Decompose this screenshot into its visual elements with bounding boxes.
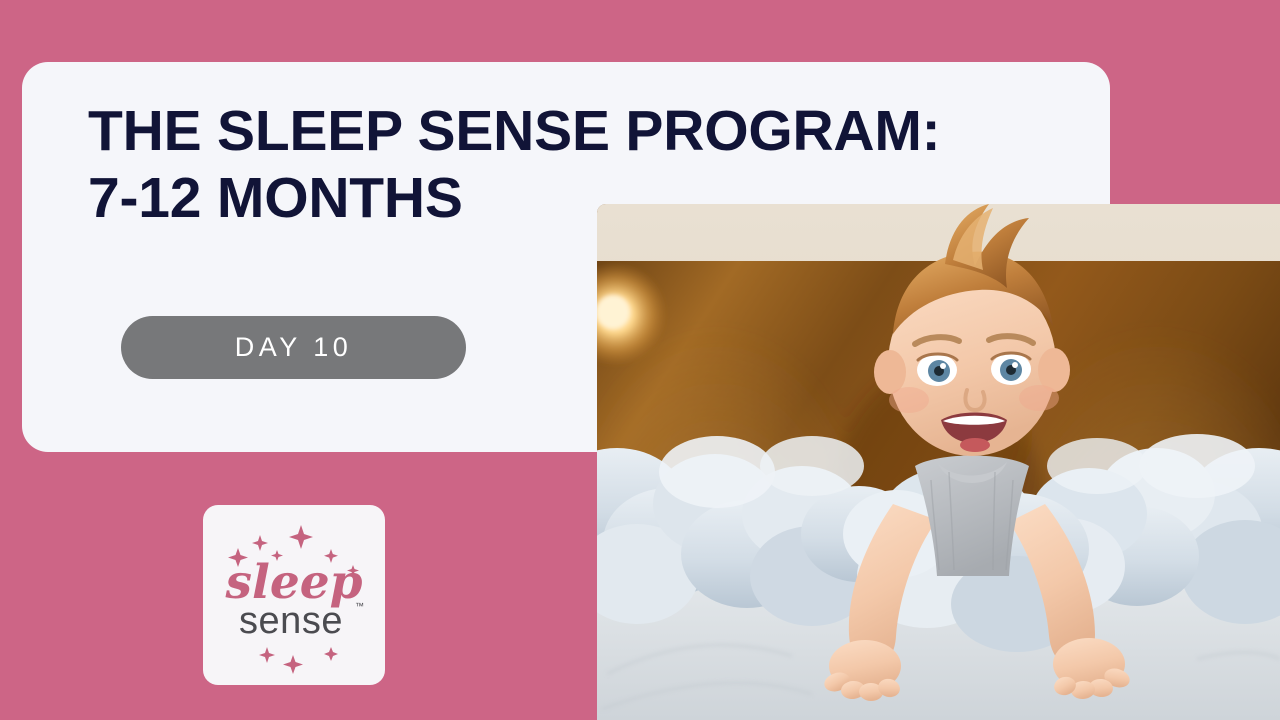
sleep-sense-logo: sleep sense ™ xyxy=(203,505,385,685)
logo-artwork: sleep sense ™ xyxy=(203,505,385,685)
logo-trademark: ™ xyxy=(355,601,364,611)
baby-photo xyxy=(597,204,1280,720)
baby-photo-illustration xyxy=(597,204,1280,720)
day-badge-label: DAY 10 xyxy=(235,332,353,363)
day-badge: DAY 10 xyxy=(121,316,466,379)
slide-canvas: THE SLEEP SENSE PROGRAM: 7-12 MONTHS DAY… xyxy=(0,0,1280,720)
logo-word-sense: sense xyxy=(239,600,343,642)
